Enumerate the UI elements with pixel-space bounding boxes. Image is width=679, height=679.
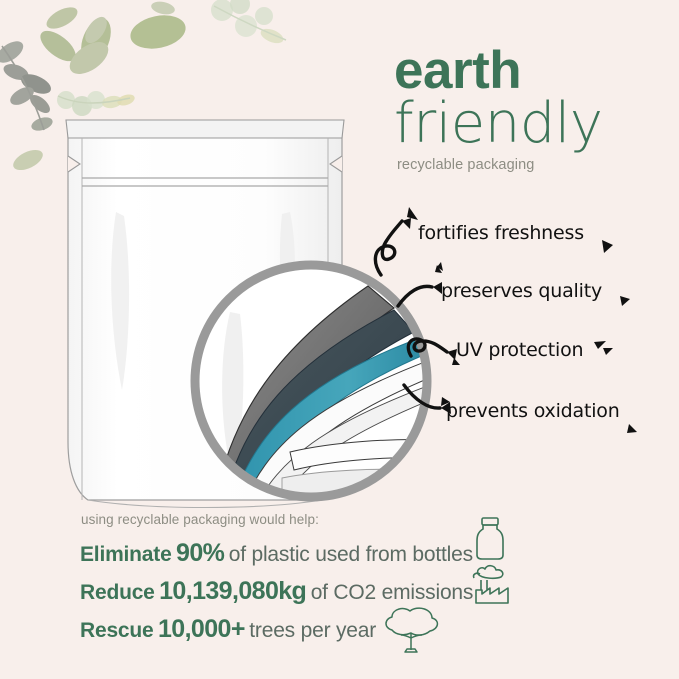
feature-label-uv-protection: UV protection [456,339,583,361]
stat-verb: Reduce [80,581,155,604]
stat-row-reduce: Reduce 10,139,080kg of CO2 emissions [80,577,640,606]
stat-rest: trees per year [249,619,376,642]
headline-block: earth friendly recyclable packaging [394,46,676,173]
sparkle-tick [594,341,606,349]
stat-row-eliminate: Eliminate 90% of plastic used from bottl… [80,539,640,568]
stats-lead-text: using recyclable packaging would help: [81,512,640,527]
stats-block: using recyclable packaging would help: E… [80,512,640,652]
magnifier-circle [182,252,440,510]
stat-rest: of CO2 emissions [311,581,474,604]
feature-label-prevents-oxidation: prevents oxidation [446,400,620,422]
stat-number: 10,000+ [158,615,245,643]
headline-line-2: friendly [394,96,676,152]
tree-icon [378,604,444,660]
bottle-icon [470,514,510,562]
sparkle-tick [407,207,418,220]
sparkle-tick [620,296,630,306]
stat-number: 90% [176,539,224,567]
headline-line-1: earth [394,46,676,96]
infographic-canvas: earth friendly recyclable packaging fort… [0,0,679,679]
factory-icon [468,562,514,606]
feature-label-fortifies-freshness: fortifies freshness [418,222,584,244]
stat-verb: Eliminate [80,543,172,566]
sparkle-tick [627,424,637,433]
stat-rest: of plastic used from bottles [229,543,473,566]
stat-number: 10,139,080kg [159,577,306,605]
stat-row-rescue: Rescue 10,000+ trees per year [80,615,640,644]
sparkle-tick [603,348,613,355]
feature-label-preserves-quality: preserves quality [441,280,602,302]
stat-verb: Rescue [80,619,154,642]
sparkle-tick [602,240,613,253]
headline-subtitle: recyclable packaging [397,157,676,173]
